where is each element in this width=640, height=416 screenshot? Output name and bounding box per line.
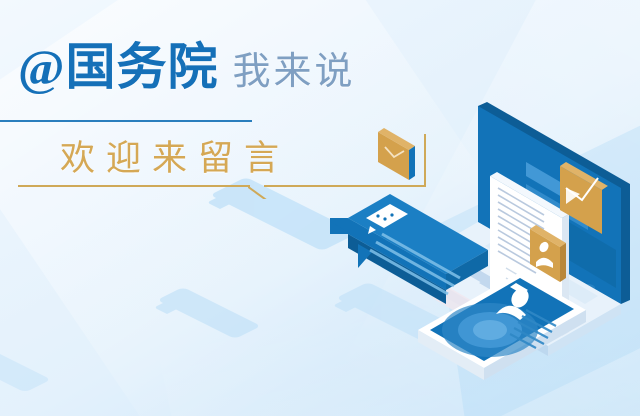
title-underline: [0, 120, 252, 122]
frame-notch: [248, 185, 268, 199]
frame-rail-left: [18, 185, 250, 187]
tagline: 欢迎来留言: [60, 130, 290, 181]
background-speech-bubble-4: [0, 338, 51, 393]
banner-image: @国务院 我来说 欢迎来留言: [0, 0, 640, 416]
envelope-check-group: [378, 128, 415, 180]
phone-signal-rings-group: [442, 303, 538, 357]
page-title: @国务院: [18, 42, 219, 92]
background-speech-bubble-2: [157, 287, 261, 339]
page-subtitle: 我来说: [233, 53, 356, 91]
hero-illustration: [330, 92, 640, 416]
